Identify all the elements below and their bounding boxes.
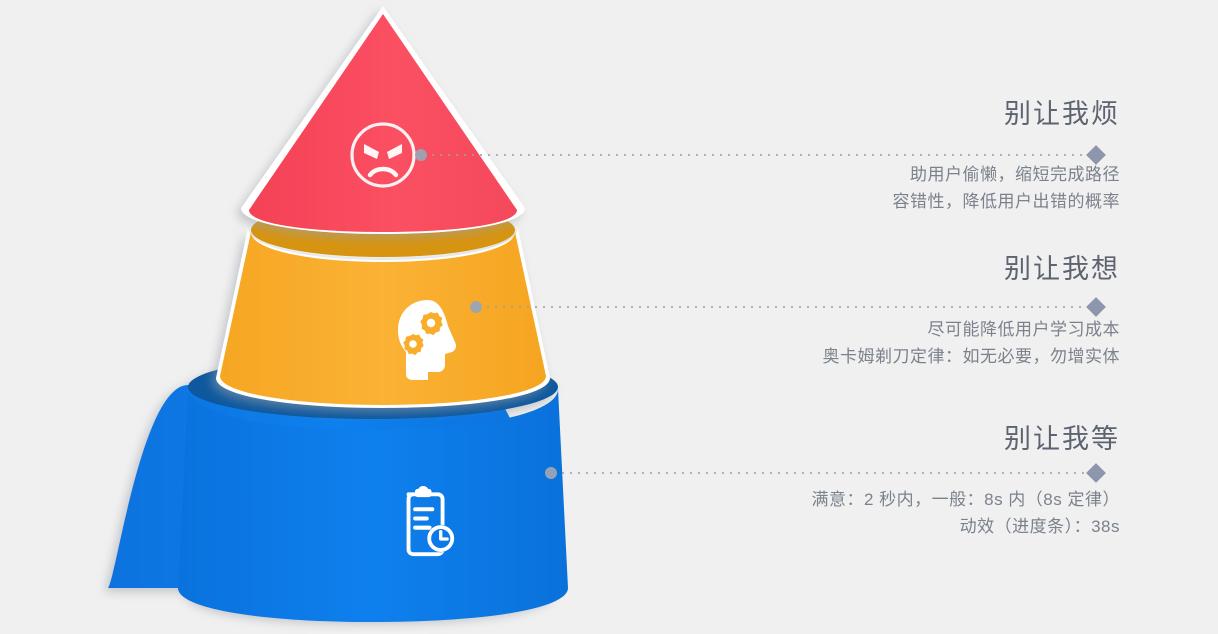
info-title-annoy: 别让我烦 — [600, 98, 1120, 130]
info-desc-annoy-line-2: 容错性，降低用户出错的概率 — [600, 189, 1120, 215]
infographic-canvas: 别让我烦 助用户偷懒，缩短完成路径 容错性，降低用户出错的概率 别让我想 尽可能… — [0, 0, 1218, 634]
info-rule-spacer — [600, 140, 1120, 152]
info-title-think: 别让我想 — [600, 253, 1120, 285]
info-block-annoy: 别让我烦 助用户偷懒，缩短完成路径 容错性，降低用户出错的概率 — [600, 98, 1120, 215]
info-rule-spacer — [600, 295, 1120, 307]
info-block-think: 别让我想 尽可能降低用户学习成本 奥卡姆剃刀定律：如无必要，勿增实体 — [600, 253, 1120, 370]
info-rule-spacer — [600, 465, 1120, 477]
pyramid-diagram — [70, 0, 670, 634]
info-title-wait: 别让我等 — [600, 423, 1120, 455]
info-desc-think-line-2: 奥卡姆剃刀定律：如无必要，勿增实体 — [600, 344, 1120, 370]
info-desc-think-line-1: 尽可能降低用户学习成本 — [600, 317, 1120, 343]
info-block-wait: 别让我等 满意：2 秒内，一般：8s 内（8s 定律） 动效（进度条）：38s — [600, 423, 1120, 540]
info-desc-wait-line-2: 动效（进度条）：38s — [600, 514, 1120, 540]
info-desc-wait-line-1: 满意：2 秒内，一般：8s 内（8s 定律） — [600, 487, 1120, 513]
info-desc-annoy-line-1: 助用户偷懒，缩短完成路径 — [600, 162, 1120, 188]
